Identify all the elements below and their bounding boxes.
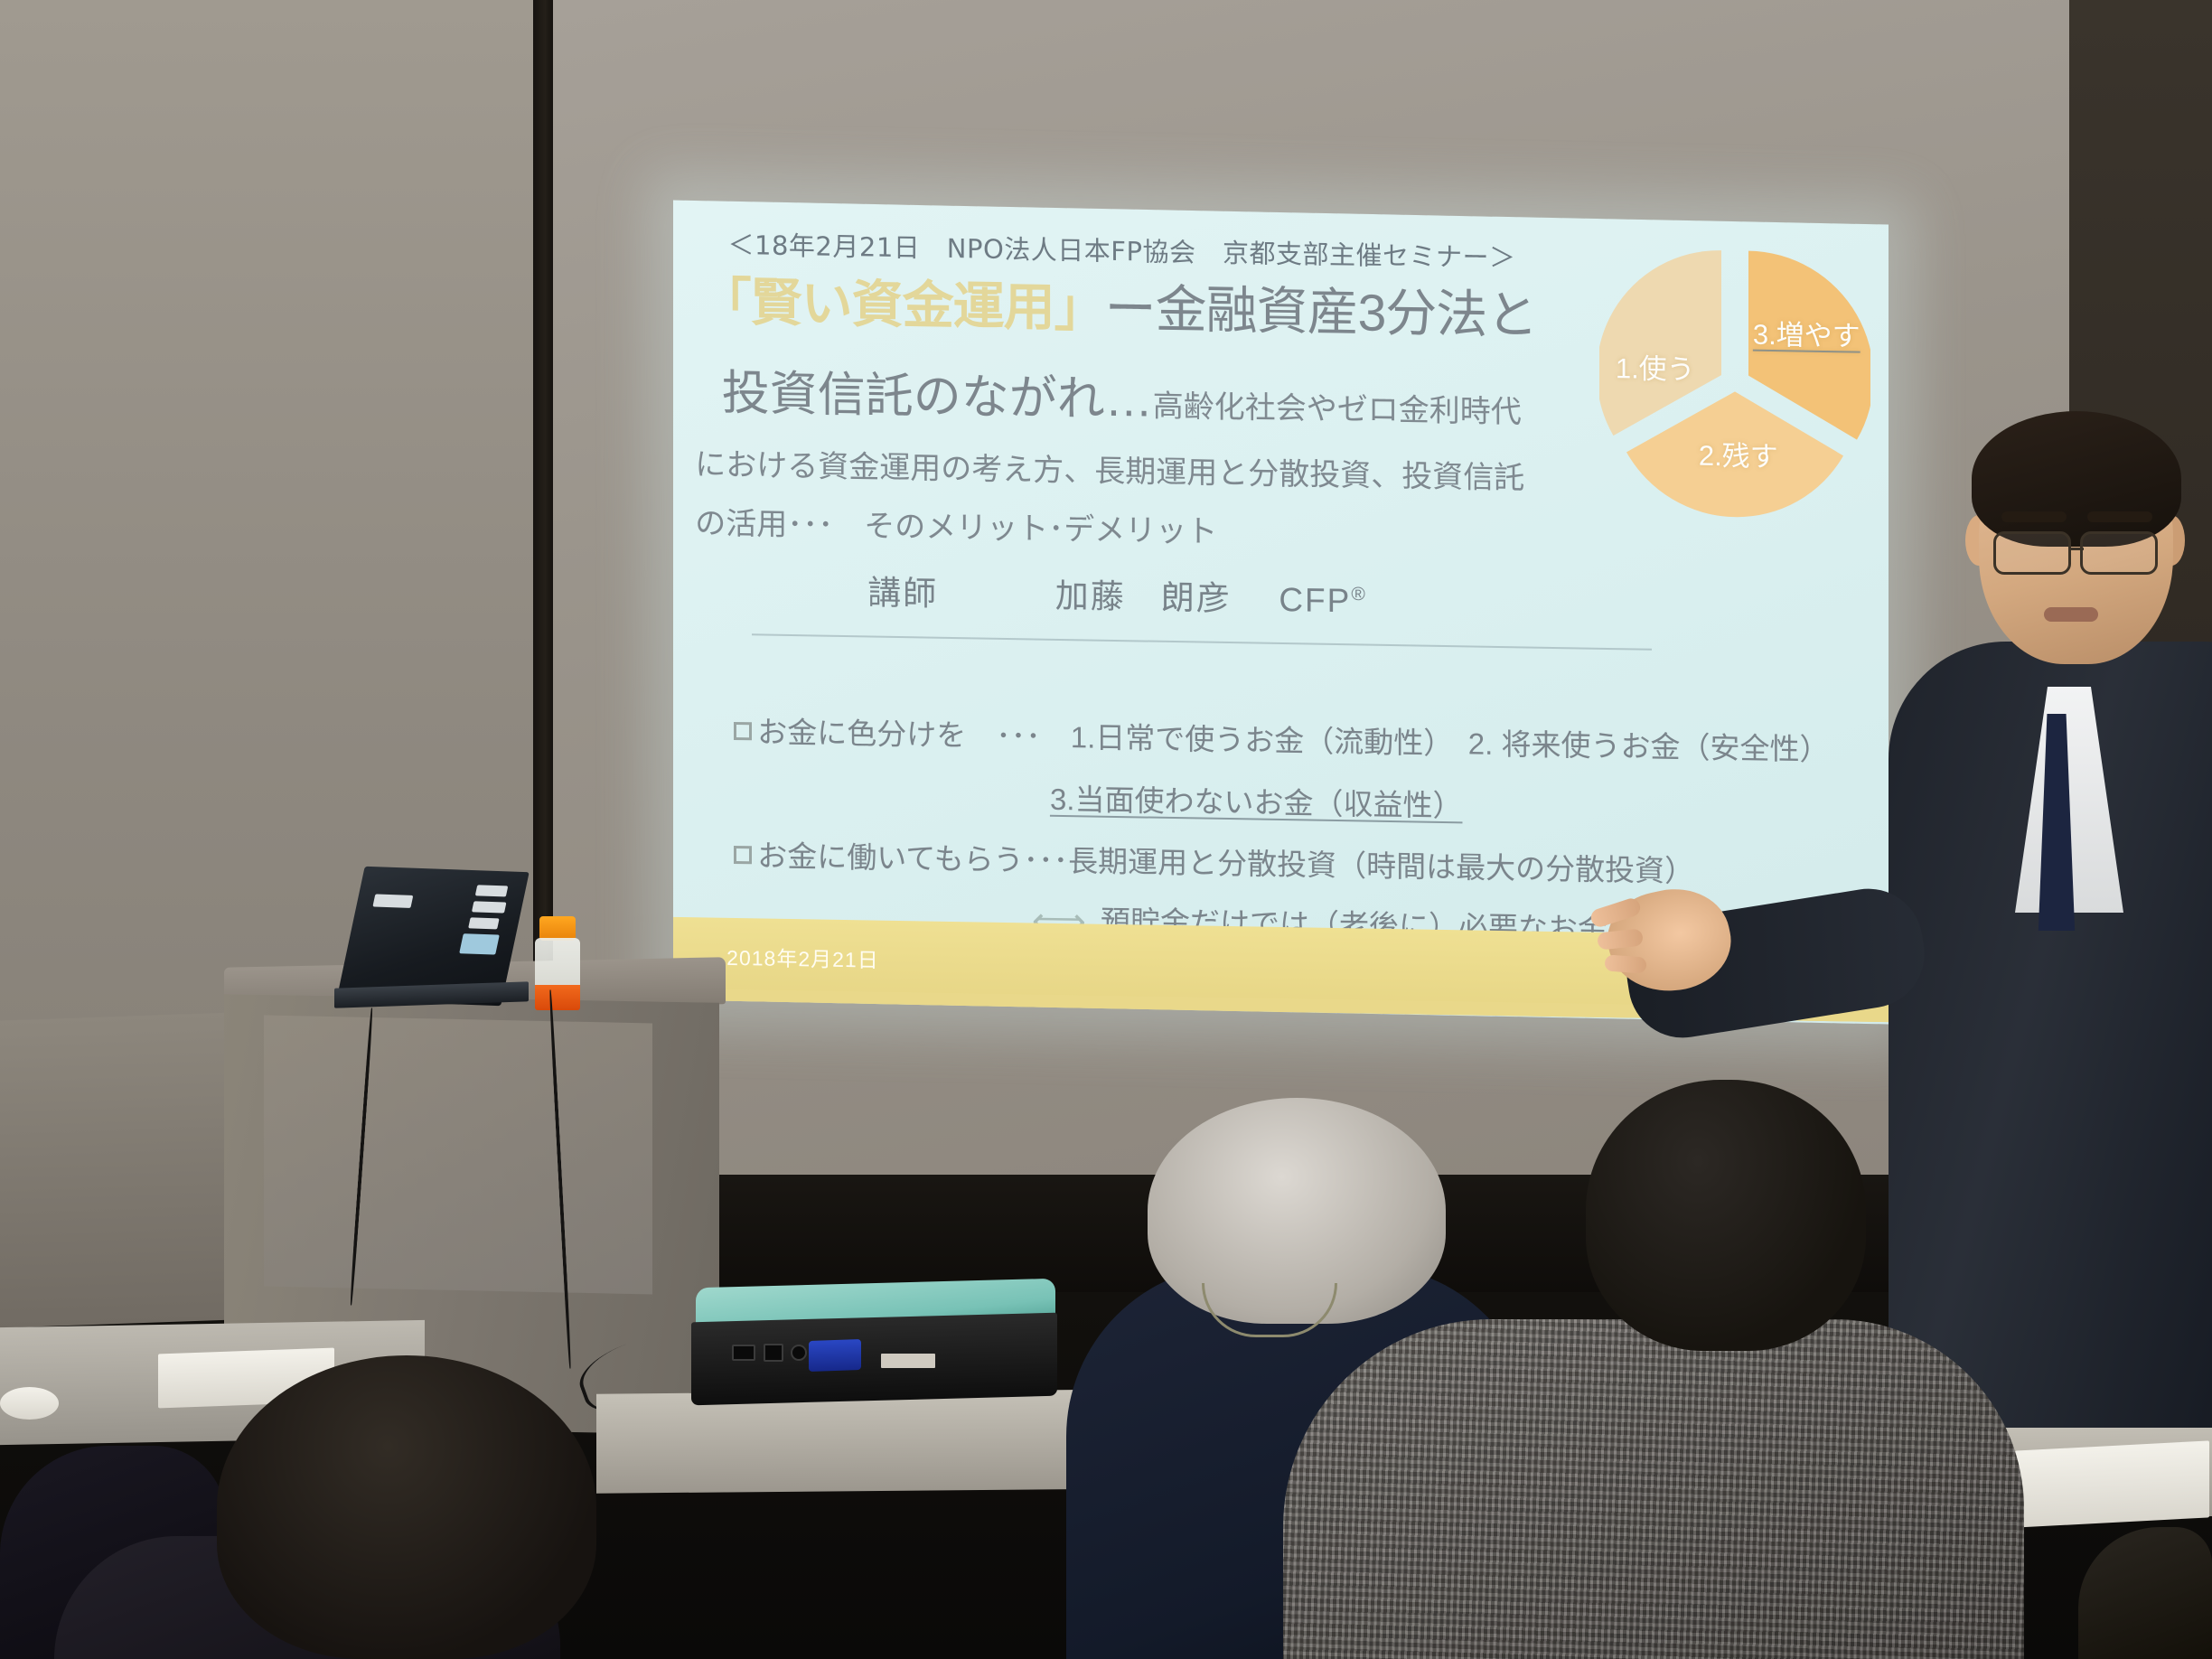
laptop-sticker — [468, 917, 500, 929]
lecturer-label: 講師 — [867, 575, 938, 613]
presenter-mouth — [2044, 607, 2098, 622]
bottle-cap-icon — [539, 916, 576, 941]
projector-port-usb — [764, 1344, 783, 1362]
presenter-glasses-lens-left — [1993, 531, 2071, 575]
podium-side-panel — [0, 1012, 237, 1327]
lecturer-cert: CFP — [1279, 581, 1351, 619]
slide-bullet-1: お金に色分けを ･･･ 1.日常で使うお金（流動性） 2. 将来使うお金（安全性… — [734, 708, 1829, 769]
laptop-sticker — [475, 885, 509, 896]
projector-label — [881, 1354, 935, 1368]
audience-member-2-head — [1586, 1080, 1866, 1351]
presenter-hair — [1972, 411, 2181, 547]
slide-title-highlight: 「賢い資金運用」 — [700, 273, 1105, 337]
laptop-sticker-blue — [459, 933, 500, 954]
pie-slice-use — [1599, 248, 1721, 437]
projector-port-audio — [791, 1345, 807, 1361]
laptop-sticker — [372, 894, 413, 907]
slide-title-line2-main: 投資信託のながれ… — [722, 367, 1153, 427]
presenter-eyebrow-right — [2087, 511, 2152, 522]
slide-subtitle-line1: における資金運用の考え方、長期運用と分散投資、投資信託 — [695, 439, 1524, 497]
lecturer-line: 講師 加藤 朗彦 CFP® — [867, 566, 1367, 623]
vga-connector-icon — [809, 1339, 861, 1372]
slide-bullet-3-text: お金に働いてもらう･･･長期運用と分散投資（時間は最大の分散投資） — [757, 839, 1694, 887]
podium-front-panel — [264, 1015, 652, 1294]
slide-title-rest: ー金融資産3分法と — [1105, 279, 1538, 344]
slide-subtitle-line2: の活用･･･ そのメリット･デメリット — [695, 499, 1217, 552]
checkbox-square-icon — [734, 846, 752, 864]
registered-trademark-icon: ® — [1351, 584, 1366, 605]
pie-label-use: 1.使う — [1616, 345, 1695, 387]
handout-paper — [2015, 1440, 2209, 1527]
slide-bullet-1-text: お金に色分けを ･･･ 1.日常で使うお金（流動性） 2. 将来使うお金（安全性… — [757, 715, 1829, 766]
presenter-finger — [1604, 954, 1646, 973]
laptop-sticker — [472, 901, 507, 913]
pie-label-keep: 2.残す — [1699, 433, 1778, 474]
slide-title-line2-small: 高齢化社会やゼロ金利時代 — [1153, 389, 1522, 430]
projector-port-hdmi — [732, 1345, 755, 1361]
seminar-room-photo: ＜18年2月21日 NPO法人日本FP協会 京都支部主催セミナー＞ 「賢い資金運… — [0, 0, 2212, 1659]
asset-allocation-pie-chart: 1.使う 2.残す 3.増やす — [1599, 246, 1870, 521]
slide-title-line1: 「賢い資金運用」ー金融資産3分法と — [700, 260, 1538, 348]
slide-title-line2: 投資信託のながれ…高齢化社会やゼロ金利時代 — [722, 355, 1522, 437]
presenter-eyebrow-left — [2001, 511, 2067, 522]
presenter-glasses-bridge — [2071, 548, 2084, 550]
bottle-label — [535, 985, 580, 1010]
pie-label-grow: 3.増やす — [1753, 319, 1861, 353]
slide-divider — [752, 633, 1651, 651]
presenter-glasses-lens-right — [2080, 531, 2158, 575]
lecturer-name: 加藤 朗彦 — [1055, 577, 1232, 617]
slide-bullet-3: お金に働いてもらう･･･長期運用と分散投資（時間は最大の分散投資） — [734, 831, 1694, 891]
slide-footer-date: 2018年2月21日 — [726, 940, 879, 973]
audience-member-2-body — [1283, 1319, 2024, 1659]
audience-member-3-head — [217, 1355, 596, 1659]
slide-bullet-2: 3.当面使わないお金（収益性） — [1050, 774, 1463, 825]
handout-paper — [0, 1387, 59, 1420]
checkbox-square-icon — [734, 722, 752, 740]
